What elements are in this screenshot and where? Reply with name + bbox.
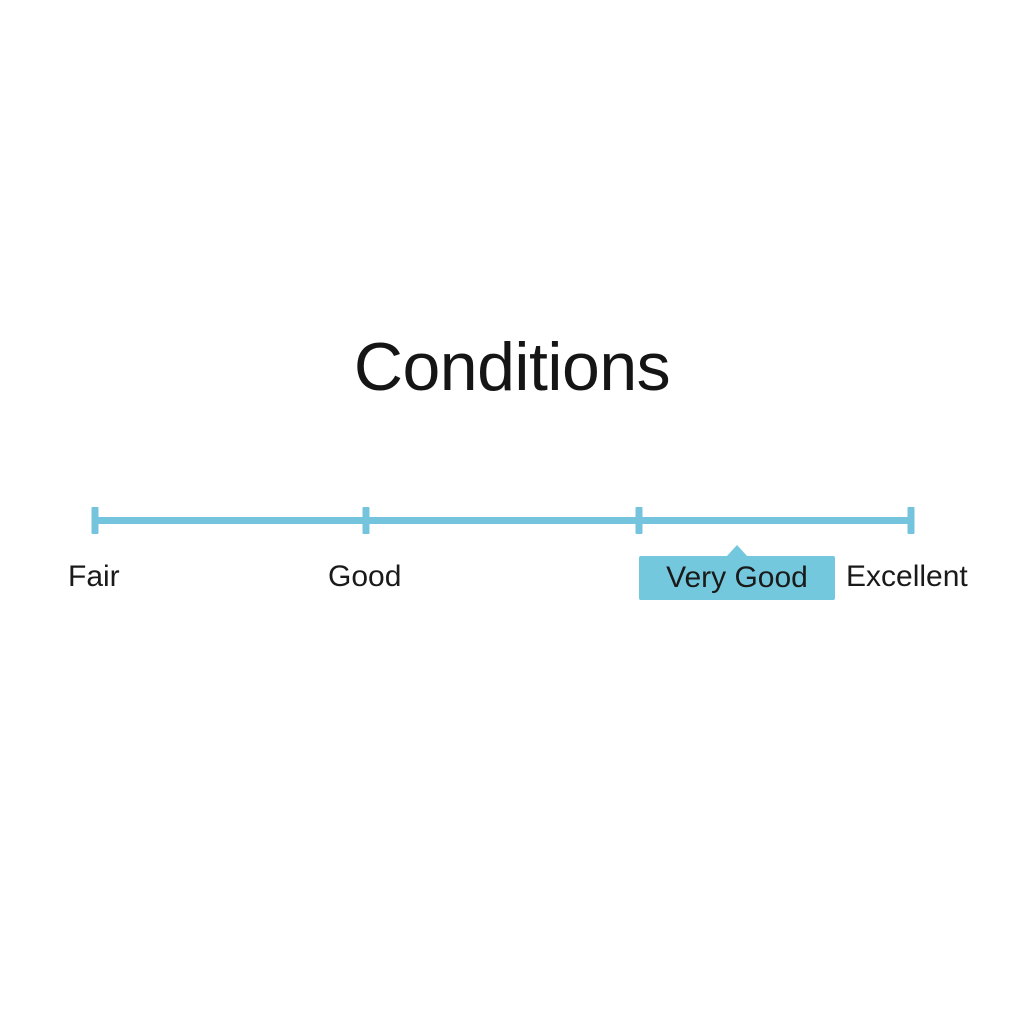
axis-tick-excellent	[908, 507, 915, 534]
rating-scale-axis	[0, 0, 1024, 1024]
axis-tick-very-good	[636, 507, 643, 534]
tick-label-fair[interactable]: Fair	[68, 562, 120, 592]
tick-label-excellent[interactable]: Excellent	[846, 562, 968, 592]
axis-line	[94, 517, 912, 524]
tick-label-very-good: Very Good	[639, 556, 835, 600]
axis-tick-fair	[92, 507, 99, 534]
tick-label-good[interactable]: Good	[328, 562, 401, 592]
scale-chart-canvas: Conditions Fair Good Very Good Excellent	[0, 0, 1024, 1024]
page-title: Conditions	[0, 333, 1024, 401]
axis-tick-good	[363, 507, 370, 534]
